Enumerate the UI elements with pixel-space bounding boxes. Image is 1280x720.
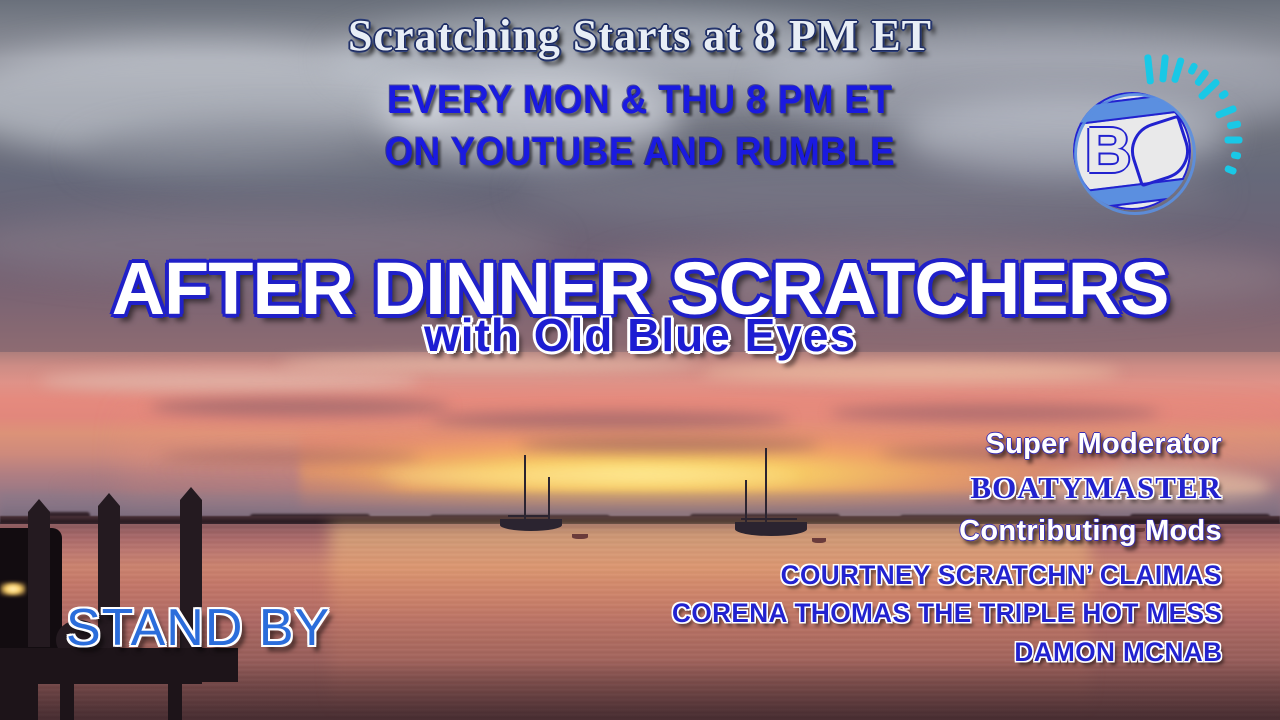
hull (735, 522, 807, 536)
dock-post (0, 682, 38, 720)
sailboat-right (735, 448, 805, 540)
dock-post (168, 682, 182, 720)
stream-standby-screen: B Scratching Starts at 8 PM ET EVERY MON… (0, 0, 1280, 720)
dock-light (0, 582, 26, 596)
boom (508, 515, 550, 517)
contributing-mod-name: COURTNEY SCRATCHN’ CLAIMAS (781, 562, 1222, 589)
small-boat (572, 534, 588, 539)
small-boat (812, 538, 826, 543)
wooden-dock (0, 470, 330, 720)
sunset-cloud-streak (430, 412, 790, 428)
dock-piling (28, 512, 50, 647)
show-subtitle: with Old Blue Eyes (0, 312, 1280, 358)
contributing-mods-label: Contributing Mods (959, 517, 1222, 546)
scratch-start-time-banner: Scratching Starts at 8 PM ET (0, 14, 1280, 58)
sunset-cloud-streak (700, 362, 1120, 382)
dock-post (60, 682, 74, 720)
contributing-mod-name: CORENA THOMAS THE TRIPLE HOT MESS (672, 600, 1222, 627)
mast (524, 455, 526, 521)
sunset-cloud-streak (830, 404, 1160, 422)
boom (741, 518, 797, 520)
super-moderator-name: BOATYMASTER (970, 472, 1222, 503)
sunset-cloud-streak (160, 450, 420, 463)
sunset-cloud-streak (40, 370, 420, 392)
contributing-mod-name: DAMON MCNAB (1014, 639, 1222, 666)
status-badge: STAND BY (66, 602, 330, 654)
hull (500, 519, 562, 531)
sunset-cloud-streak (150, 398, 450, 416)
sailboat-left (500, 455, 560, 535)
schedule-line-1: EVERY MON & THU 8 PM ET (51, 80, 1229, 120)
schedule-line-2: ON YOUTUBE AND RUMBLE (51, 132, 1229, 172)
super-moderator-label: Super Moderator (985, 430, 1222, 459)
mast (765, 448, 767, 524)
